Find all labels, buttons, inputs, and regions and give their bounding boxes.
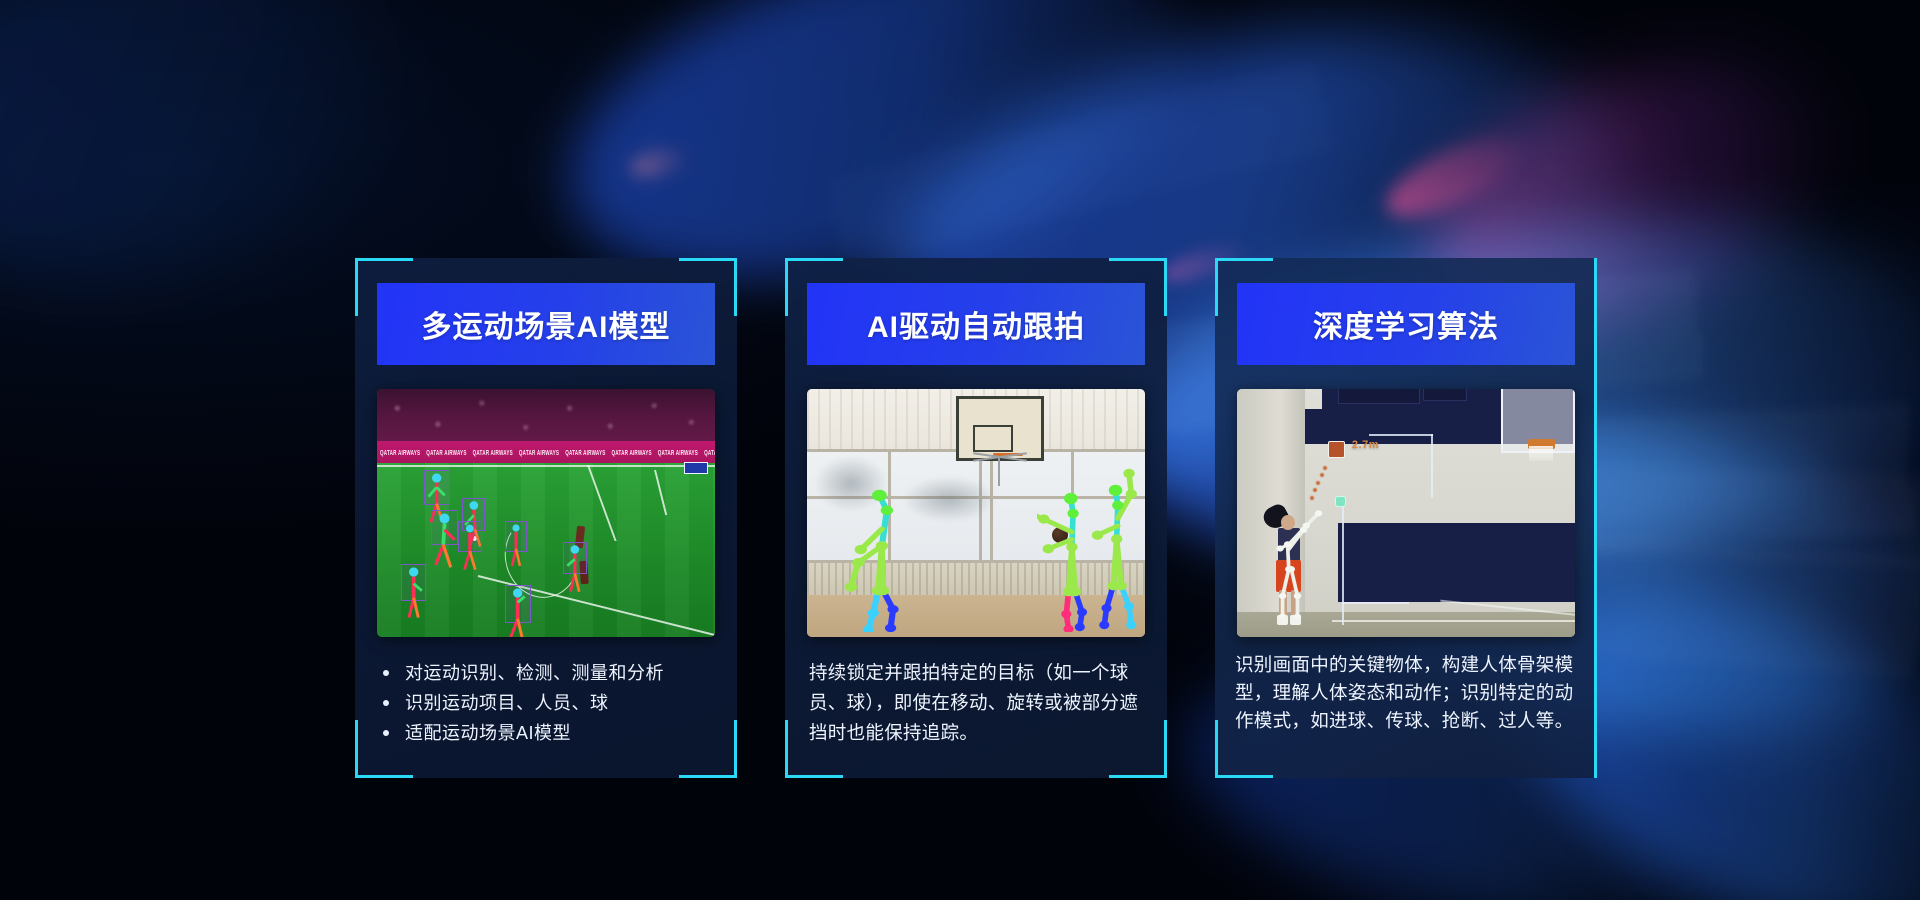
- media-soccer-field-detection: QATAR AIRWAYSQATAR AIRWAYSQATAR AIRWAYSQ…: [377, 389, 715, 637]
- detection-box: [505, 585, 530, 623]
- tracking-guide-horizontal: [1369, 434, 1433, 436]
- wall-pad-lower: [1338, 523, 1575, 602]
- measurement-label: 2.7m: [1352, 439, 1379, 451]
- card-description: 持续锁定并跟拍特定的目标（如一个球员、球），即使在移动、旋转或被部分遮挡时也能保…: [809, 658, 1145, 748]
- media-gym-basketball-pose-skeleton: [807, 389, 1145, 637]
- card-body: 对运动识别、检测、测量和分析 识别运动项目、人员、球 适配运动场景AI模型: [379, 658, 715, 748]
- bullet-text: 适配运动场景AI模型: [405, 723, 571, 743]
- pose-skeleton-shooter: [1264, 503, 1338, 627]
- scoreboard-secondary: [1423, 389, 1467, 401]
- pose-skeleton: [564, 543, 586, 597]
- ad-banner-text: QATAR AIRWAYS: [608, 449, 654, 457]
- pose-skeleton-player-left: [841, 473, 915, 632]
- ad-banner-text: QATAR AIRWAYS: [516, 449, 562, 457]
- feature-card-deep-learning-algorithm[interactable]: 深度学习算法: [1215, 258, 1597, 778]
- card-header: AI驱动自动跟拍: [807, 283, 1145, 365]
- pitch-sideline: [377, 465, 715, 467]
- detection-box: [424, 470, 449, 505]
- pose-skeleton-player-right: [1084, 466, 1145, 630]
- tracking-guide-floor-vertical: [1342, 501, 1344, 625]
- pose-skeleton: [459, 522, 481, 576]
- pose-skeleton: [506, 586, 529, 637]
- tracking-guide-floor-horizontal: [1342, 602, 1410, 604]
- feature-card-multi-sport-ai-model[interactable]: 多运动场景AI模型 QATAR AIRWAYSQATAR AIRWAYSQATA…: [355, 258, 737, 778]
- list-item: 适配运动场景AI模型: [379, 718, 715, 748]
- basketball-backboard: [956, 396, 1044, 460]
- detection-box: [563, 542, 587, 575]
- pitch-side-logo: [684, 462, 708, 474]
- detection-box: [401, 564, 426, 600]
- bullet-dot-icon: [383, 670, 389, 676]
- ad-banner-text: QATAR AIRWAYS: [562, 449, 608, 457]
- ad-banner-text: QATAR AIRWAYS: [655, 449, 701, 457]
- advertising-banner: QATAR AIRWAYSQATAR AIRWAYSQATAR AIRWAYSQ…: [377, 441, 715, 465]
- window-tree-silhouette: [902, 476, 997, 522]
- backboard-inner-square: [973, 425, 1012, 452]
- pose-skeleton: [402, 565, 425, 623]
- card-title: AI驱动自动跟拍: [867, 302, 1085, 346]
- card-body: 持续锁定并跟拍特定的目标（如一个球员、球），即使在移动、旋转或被部分遮挡时也能保…: [809, 658, 1145, 748]
- distant-net: [1529, 446, 1553, 461]
- pitch-goal-line: [654, 470, 667, 515]
- feature-card-ai-auto-tracking[interactable]: AI驱动自动跟拍: [785, 258, 1167, 778]
- detection-box: [431, 510, 458, 545]
- bullet-text: 识别运动项目、人员、球: [405, 693, 609, 713]
- pitch-penalty-line: [587, 465, 617, 541]
- card-title: 多运动场景AI模型: [422, 302, 671, 346]
- detection-box: [458, 521, 482, 552]
- bullet-text: 对运动识别、检测、测量和分析: [405, 663, 664, 683]
- list-item: 识别运动项目、人员、球: [379, 688, 715, 718]
- ad-banner-text: QATAR AIRWAYS: [701, 449, 715, 457]
- court-baseline: [1332, 620, 1575, 622]
- ball-tracking-box: [1328, 441, 1345, 458]
- trajectory-dot: [1310, 496, 1314, 500]
- feature-card-row: 多运动场景AI模型 QATAR AIRWAYSQATAR AIRWAYSQATA…: [355, 258, 1565, 778]
- tracking-guide-vertical: [1431, 434, 1433, 498]
- detection-box: [505, 521, 527, 552]
- soccer-pitch: [377, 463, 715, 637]
- pose-skeleton: [432, 511, 457, 574]
- pose-skeleton: [506, 522, 526, 572]
- hoop-support-pole: [998, 458, 1000, 485]
- card-header: 多运动场景AI模型: [377, 283, 715, 365]
- card-header: 深度学习算法: [1237, 283, 1575, 365]
- ad-banner-text: QATAR AIRWAYS: [470, 449, 516, 457]
- media-shot-tracking-analysis: 2.7m: [1237, 389, 1575, 637]
- scoreboard: [1338, 389, 1419, 404]
- list-item: 对运动识别、检测、测量和分析: [379, 658, 715, 688]
- ad-banner-text: QATAR AIRWAYS: [423, 449, 469, 457]
- ad-banner-text: QATAR AIRWAYS: [377, 449, 423, 457]
- card-title: 深度学习算法: [1313, 302, 1499, 346]
- card-body: 识别画面中的关键物体，构建人体骨架模型，理解人体姿态和动作；识别特定的动作模式，…: [1235, 651, 1579, 735]
- feature-bullet-list: 对运动识别、检测、测量和分析 识别运动项目、人员、球 适配运动场景AI模型: [379, 658, 715, 748]
- bullet-dot-icon: [383, 700, 389, 706]
- card-description: 识别画面中的关键物体，构建人体骨架模型，理解人体姿态和动作；识别特定的动作模式，…: [1235, 651, 1579, 735]
- bullet-dot-icon: [383, 730, 389, 736]
